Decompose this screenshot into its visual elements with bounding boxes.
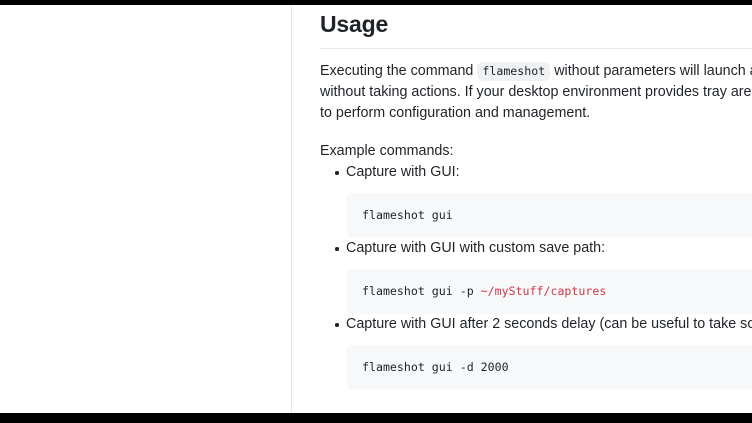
list-item-label: Capture with GUI with custom save path: (346, 238, 752, 259)
intro-paragraph-line3: to perform configuration and management. (320, 103, 752, 124)
content-inner: Usage Executing the command flameshot wi… (292, 5, 752, 390)
bullet-icon (335, 171, 339, 175)
page-title: Usage (320, 5, 752, 39)
list-item: Capture with GUI with custom save path: … (320, 238, 752, 314)
letterbox-bar-top (0, 0, 752, 5)
list-item-label: Capture with GUI after 2 seconds delay (… (346, 314, 752, 335)
inline-code-flameshot: flameshot (477, 62, 550, 81)
code-text: flameshot gui (362, 208, 453, 222)
code-text: flameshot gui -p (362, 284, 481, 298)
list-item: Capture with GUI: flameshot gui (320, 162, 752, 238)
bullet-icon (335, 247, 339, 251)
intro-paragraph-line1: Executing the command flameshot without … (320, 49, 752, 82)
intro-paragraph-line2: without taking actions. If your desktop … (320, 82, 752, 103)
main-content: Usage Executing the command flameshot wi… (292, 5, 752, 413)
code-block[interactable]: flameshot gui -p ~/myStuff/captures (346, 269, 752, 314)
intro-text-before-code: Executing the command (320, 63, 473, 79)
code-text: flameshot gui -d 2000 (362, 360, 509, 374)
list-item-label: Capture with GUI: (346, 162, 752, 183)
code-block[interactable]: flameshot gui -d 2000 (346, 345, 752, 390)
examples-label: Example commands: (320, 124, 752, 162)
list-item: Capture with GUI after 2 seconds delay (… (320, 314, 752, 390)
bullet-icon (335, 323, 339, 327)
command-example-list: Capture with GUI: flameshot gui Capture … (320, 162, 752, 390)
code-block[interactable]: flameshot gui (346, 193, 752, 238)
letterbox-bar-bottom (0, 413, 752, 423)
intro-text-after-code: without parameters will launch a ru (554, 63, 752, 79)
code-path-token: ~/myStuff/captures (481, 284, 607, 298)
sidebar-pane (0, 5, 291, 413)
documentation-screen: Usage Executing the command flameshot wi… (0, 0, 752, 423)
